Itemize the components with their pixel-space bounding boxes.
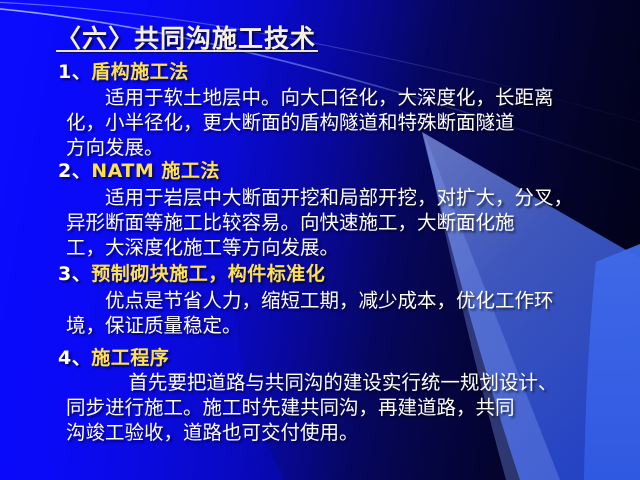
section-heading-1: 1、盾构施工法 xyxy=(58,57,189,84)
body-line: 优点是节省人力，缩短工期，减少成本，优化工作环 xyxy=(66,288,622,313)
section-body-2: 适用于岩层中大断面开挖和局部开挖，对扩大，分叉， 异形断面等施工比较容易。向快速… xyxy=(66,185,622,260)
body-line: 化，小半径化，更大断面的盾构隧道和特殊断面隧道 xyxy=(66,110,622,135)
presentation-slide: 〈六〉共同沟施工技术 1、盾构施工法 适用于软土地层中。向大口径化，大深度化，长… xyxy=(0,0,640,480)
section-number-4: 4、 xyxy=(58,347,91,369)
section-heading-3: 3、预制砌块施工，构件标准化 xyxy=(58,259,325,286)
section-number-2: 2、 xyxy=(58,160,91,182)
section-title-3: 预制砌块施工，构件标准化 xyxy=(91,263,325,285)
section-title-2: NATM 施工法 xyxy=(91,160,220,182)
body-line: 境，保证质量稳定。 xyxy=(66,313,622,338)
body-line: 沟竣工验收，道路也可交付使用。 xyxy=(66,420,622,445)
body-line: 适用于岩层中大断面开挖和局部开挖，对扩大，分叉， xyxy=(66,185,622,210)
title-underline xyxy=(56,50,318,52)
section-number-3: 3、 xyxy=(58,263,91,285)
body-line: 同步进行施工。施工时先建共同沟，再建道路，共同 xyxy=(66,395,622,420)
section-body-4: 首先要把道路与共同沟的建设实行统一规划设计、 同步进行施工。施工时先建共同沟，再… xyxy=(66,370,622,445)
section-heading-2: 2、NATM 施工法 xyxy=(58,156,220,183)
section-title-4: 施工程序 xyxy=(91,347,169,369)
section-body-3: 优点是节省人力，缩短工期，减少成本，优化工作环 境，保证质量稳定。 xyxy=(66,288,622,338)
body-line: 异形断面等施工比较容易。向快速施工，大断面化施 xyxy=(66,210,622,235)
body-line: 工，大深度化施工等方向发展。 xyxy=(66,235,622,260)
slide-content: 〈六〉共同沟施工技术 1、盾构施工法 适用于软土地层中。向大口径化，大深度化，长… xyxy=(0,0,640,480)
section-body-1: 适用于软土地层中。向大口径化，大深度化，长距离 化，小半径化，更大断面的盾构隧道… xyxy=(66,85,622,160)
section-number-1: 1、 xyxy=(58,61,91,83)
section-title-1: 盾构施工法 xyxy=(91,61,189,83)
section-heading-4: 4、施工程序 xyxy=(58,343,169,370)
body-line: 适用于软土地层中。向大口径化，大深度化，长距离 xyxy=(66,85,622,110)
body-line: 首先要把道路与共同沟的建设实行统一规划设计、 xyxy=(66,370,622,395)
